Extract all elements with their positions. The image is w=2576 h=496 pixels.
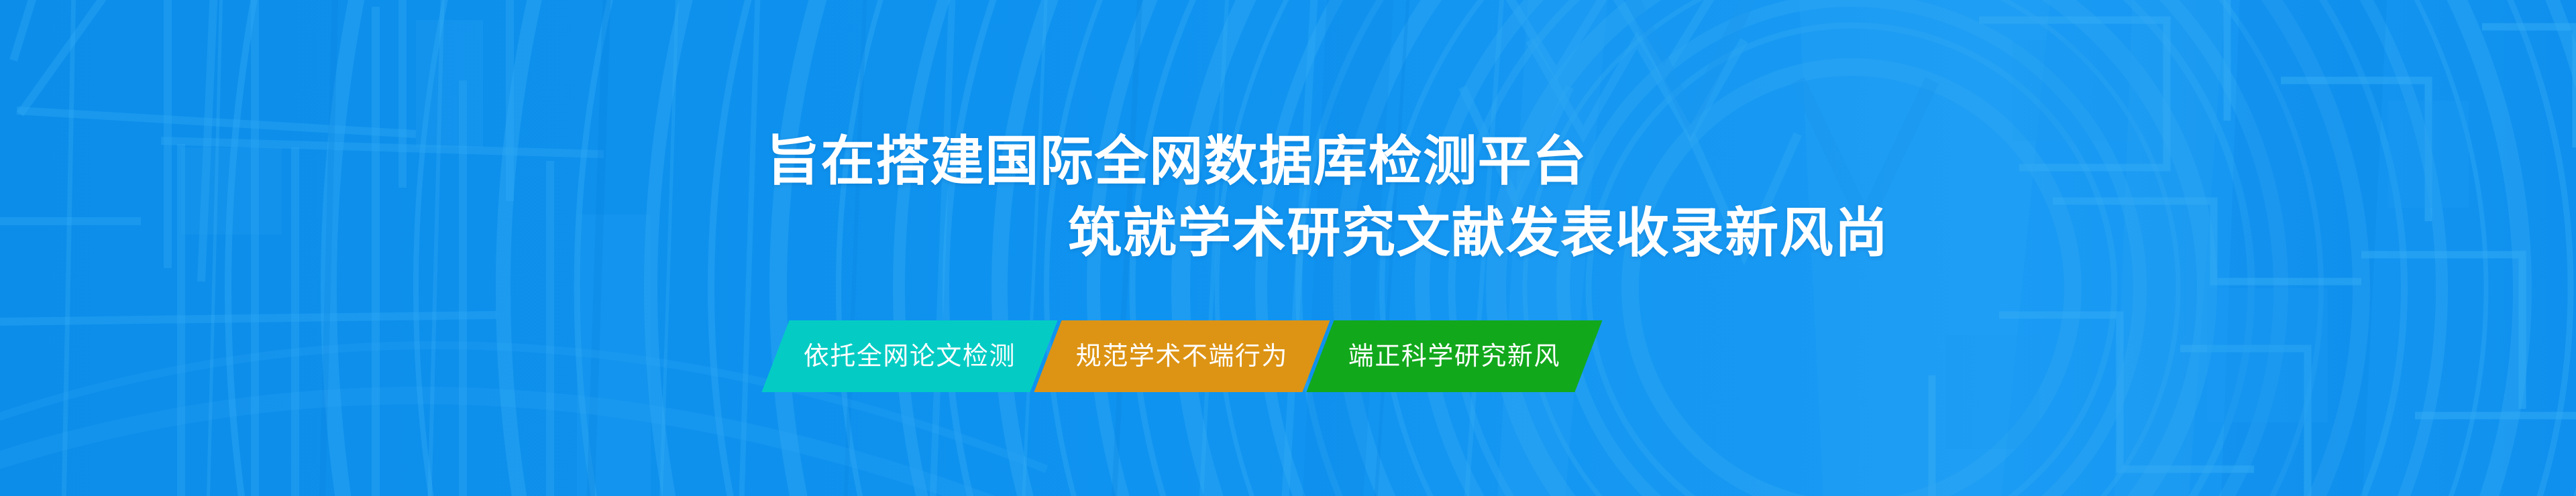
badge-paper-detection-label: 依托全网论文检测 [804,344,1016,369]
headline-line-1: 旨在搭建国际全网数据库检测平台 [766,129,1587,194]
badge-academic-misconduct[interactable]: 规范学术不端行为 [1034,320,1330,392]
headline-line-2: 筑就学术研究文献发表收录新风尚 [1068,201,1889,265]
badge-paper-detection[interactable]: 依托全网论文检测 [761,320,1057,392]
headline-block: 旨在搭建国际全网数据库检测平台 筑就学术研究文献发表收录新风尚 [0,0,2576,496]
badge-research-ethos[interactable]: 端正科学研究新风 [1306,320,1602,392]
hero-banner: 旨在搭建国际全网数据库检测平台 筑就学术研究文献发表收录新风尚 依托全网论文检测… [0,0,2576,496]
badge-academic-misconduct-label: 规范学术不端行为 [1076,344,1288,369]
feature-badge-strip: 依托全网论文检测 规范学术不端行为 端正科学研究新风 [775,320,1589,392]
badge-research-ethos-label: 端正科学研究新风 [1348,344,1560,369]
